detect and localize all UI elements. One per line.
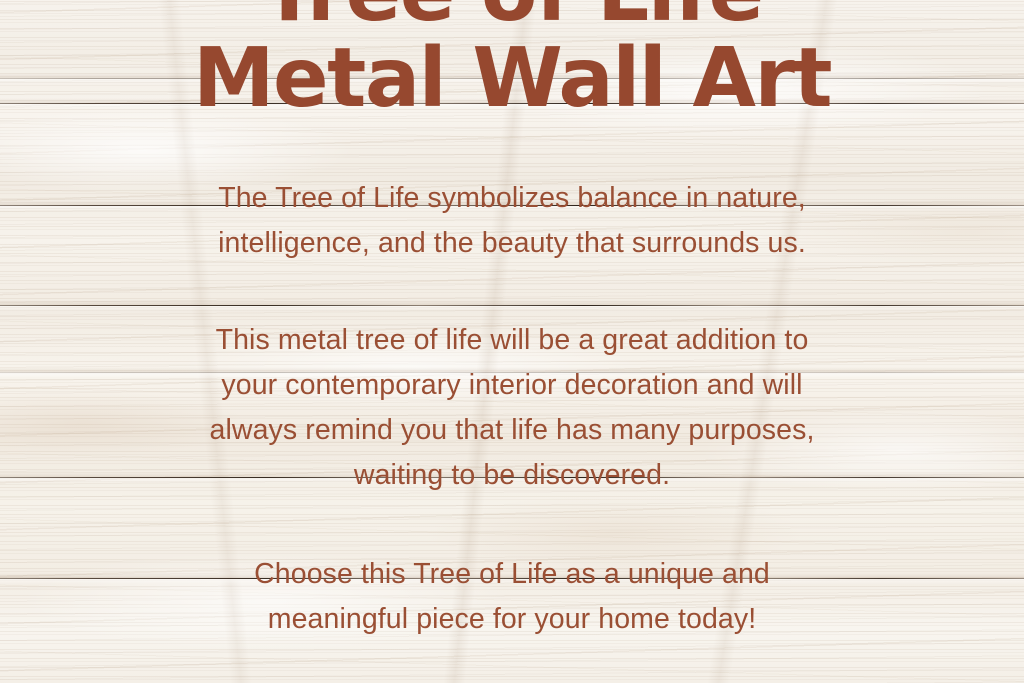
poster-canvas: Tree of Life Metal Wall Art The Tree of …: [0, 0, 1024, 683]
paragraph-decoration: This metal tree of life will be a great …: [0, 318, 1024, 498]
paragraph-decoration-line-1: This metal tree of life will be a great …: [0, 318, 1024, 363]
paragraph-decoration-line-2: your contemporary interior decoration an…: [0, 363, 1024, 408]
paragraph-decoration-line-4: waiting to be discovered.: [0, 453, 1024, 498]
page-title-line-1: Tree of Life: [0, 0, 1024, 33]
paragraph-decoration-line-3: always remind you that life has many pur…: [0, 408, 1024, 453]
paragraph-symbolism-line-1: The Tree of Life symbolizes balance in n…: [0, 176, 1024, 221]
paragraph-symbolism: The Tree of Life symbolizes balance in n…: [0, 176, 1024, 266]
paragraph-cta-line-1: Choose this Tree of Life as a unique and: [0, 552, 1024, 597]
page-title-line-2: Metal Wall Art: [0, 40, 1024, 119]
paragraph-symbolism-line-2: intelligence, and the beauty that surrou…: [0, 221, 1024, 266]
paragraph-cta-line-2: meaningful piece for your home today!: [0, 597, 1024, 642]
paragraph-call-to-action: Choose this Tree of Life as a unique and…: [0, 552, 1024, 642]
poster-content: Tree of Life Metal Wall Art The Tree of …: [0, 0, 1024, 683]
